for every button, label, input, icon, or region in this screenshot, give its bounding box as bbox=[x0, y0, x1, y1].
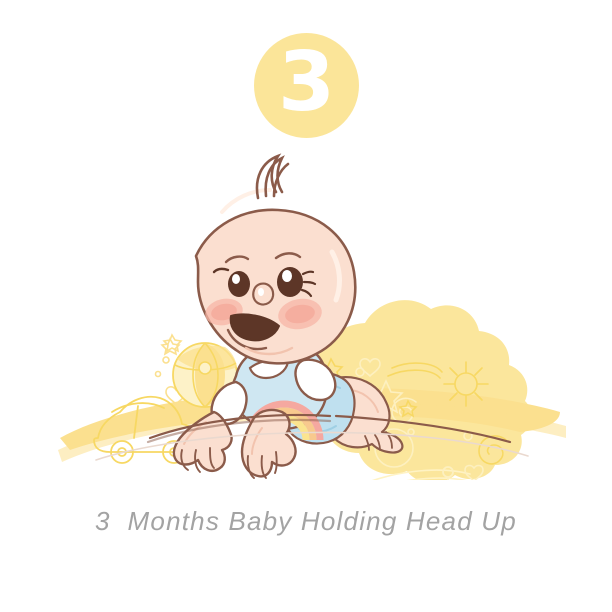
month-badge: 3 bbox=[254, 33, 359, 138]
head bbox=[196, 190, 355, 363]
month-number-label: 3 bbox=[278, 42, 334, 124]
caption-container: 3 Months Baby Holding Head Up bbox=[0, 498, 612, 544]
right-eye bbox=[277, 267, 315, 297]
month-badge-container: 3 bbox=[0, 31, 612, 139]
caption-label: 3 Months Baby Holding Head Up bbox=[95, 506, 517, 537]
baby-illustration bbox=[0, 150, 612, 480]
nose bbox=[253, 284, 273, 305]
baby-illustration-svg bbox=[0, 150, 612, 480]
illustration-poster: 3 bbox=[0, 0, 612, 612]
